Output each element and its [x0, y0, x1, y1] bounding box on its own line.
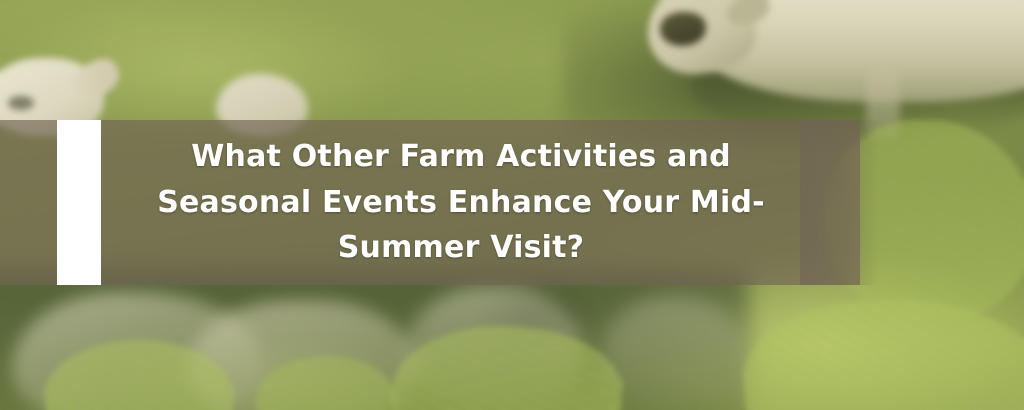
page-title-container: What Other Farm Activities and Seasonal …	[101, 120, 821, 285]
featured-image-header: What Other Farm Activities and Seasonal …	[0, 0, 1024, 410]
page-title: What Other Farm Activities and Seasonal …	[109, 134, 813, 272]
accent-bar	[57, 120, 101, 285]
